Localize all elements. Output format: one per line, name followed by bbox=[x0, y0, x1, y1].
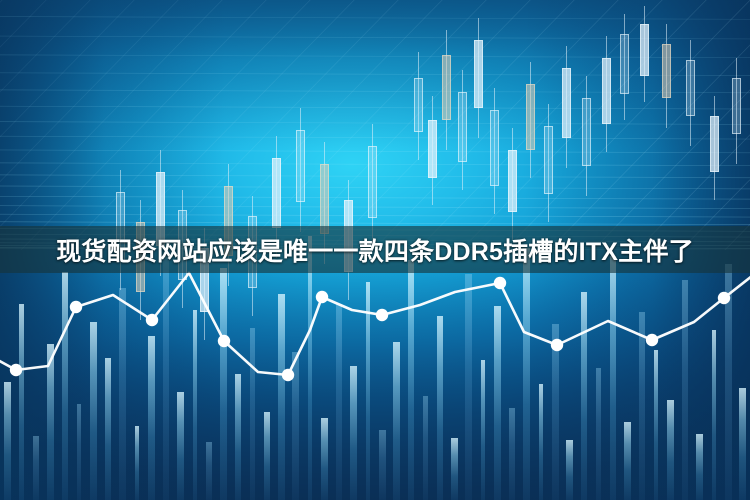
trend-line-marker bbox=[218, 335, 230, 347]
trend-line-marker bbox=[316, 291, 328, 303]
headline-band: 现货配资网站应该是唯一一款四条DDR5插槽的ITX主伴了 bbox=[0, 226, 750, 273]
trend-line-marker bbox=[494, 277, 506, 289]
trend-line-marker bbox=[70, 301, 82, 313]
trend-line-marker bbox=[646, 334, 658, 346]
trend-line-marker bbox=[376, 309, 388, 321]
headline-text: 现货配资网站应该是唯一一款四条DDR5插槽的ITX主伴了 bbox=[56, 232, 694, 268]
trend-line-marker bbox=[146, 314, 158, 326]
trend-line-marker bbox=[718, 292, 730, 304]
trend-line-marker bbox=[551, 339, 563, 351]
chart-banner: 现货配资网站应该是唯一一款四条DDR5插槽的ITX主伴了 bbox=[0, 0, 750, 500]
trend-line-marker bbox=[10, 364, 22, 376]
trend-line-markers bbox=[10, 277, 730, 381]
trend-line-path bbox=[0, 273, 750, 375]
trend-line-marker bbox=[282, 369, 294, 381]
